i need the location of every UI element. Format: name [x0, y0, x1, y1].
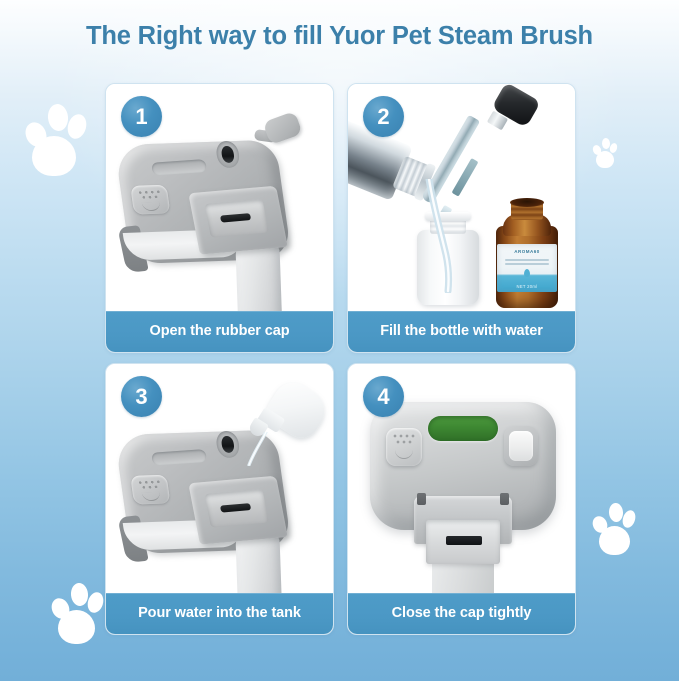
step-card-2: AROMA60 NET 20ml 2 Fill the bottle with …: [347, 83, 576, 353]
oil-bottle-mouth: [510, 198, 544, 207]
step-card-3: 3 Pour water into the tank: [105, 363, 334, 635]
background-sheen: [0, 0, 679, 681]
paw-toe: [590, 514, 610, 535]
step-3-illustration: 3: [106, 364, 333, 593]
step-number-badge-3: 3: [121, 376, 162, 417]
button-arc-icon: [142, 492, 161, 502]
button-arc-icon: [395, 449, 413, 459]
infographic-poster: The Right way to fill Yuor Pet Steam Bru…: [0, 0, 679, 681]
device-power-button: [386, 428, 422, 466]
step-number-badge-2: 2: [363, 96, 404, 137]
water-drop-icon: [524, 269, 530, 277]
device-water-tank: [426, 520, 500, 564]
paw-pad: [596, 151, 614, 168]
paw-print-top-right: [589, 138, 619, 170]
paw-pad: [58, 610, 95, 644]
button-dots-icon: [392, 434, 416, 448]
button-dots-icon: [137, 190, 163, 203]
paw-toe: [22, 119, 50, 150]
step-caption-1: Open the rubber cap: [106, 311, 333, 352]
button-dots-icon: [137, 480, 163, 493]
step-caption-4: Close the cap tightly: [348, 593, 575, 634]
step-caption-2: Fill the bottle with water: [348, 311, 575, 352]
water-stream: [424, 179, 464, 293]
paw-pad: [32, 136, 76, 176]
device-flap-inner: [205, 199, 269, 238]
paw-toe: [48, 595, 72, 621]
squeeze-bottle: [246, 374, 326, 460]
essential-oil-bottle: AROMA60 NET 20ml: [496, 198, 558, 308]
squeeze-bottle-body: [261, 375, 332, 444]
paw-toe: [47, 103, 70, 132]
paw-toe: [70, 582, 89, 606]
step-caption-3: Pour water into the tank: [106, 593, 333, 634]
step-1-illustration: 1: [106, 84, 333, 311]
paw-toe: [621, 509, 638, 530]
paw-pad: [599, 526, 630, 555]
device-brush-flap: [188, 476, 288, 545]
step-2-illustration: AROMA60 NET 20ml 2: [348, 84, 575, 311]
step-number-badge-1: 1: [121, 96, 162, 137]
step-card-4: 4 Close the cap tightly: [347, 363, 576, 635]
paw-toe: [85, 590, 105, 614]
paw-toe: [65, 112, 89, 141]
device-front-group: [370, 402, 556, 592]
device-power-button: [130, 475, 170, 505]
device-brush-flap: [188, 186, 288, 255]
step-card-1: 1 Open the rubber cap: [105, 83, 334, 353]
paw-toe: [591, 144, 602, 156]
page-title: The Right way to fill Yuor Pet Steam Bru…: [0, 22, 679, 51]
paw-toe: [609, 142, 619, 154]
paw-print-bottom-left: [43, 583, 105, 647]
pour-stream: [246, 432, 272, 466]
paw-print-top-left: [14, 104, 88, 182]
paw-toe: [602, 138, 611, 150]
paw-print-bottom-right: [587, 503, 637, 555]
oil-label-brand: AROMA60: [497, 249, 557, 254]
button-arc-icon: [142, 202, 161, 212]
device-flap-inner: [205, 489, 269, 528]
paw-toe: [608, 503, 623, 523]
device-power-button: [130, 185, 170, 215]
oil-bottle-label: AROMA60 NET 20ml: [497, 244, 557, 292]
green-indicator-window: [428, 416, 498, 441]
oil-label-volume: NET 20ml: [497, 284, 557, 289]
device-side-button: [504, 426, 538, 466]
oil-label-line: [505, 263, 549, 265]
oil-label-line: [505, 259, 549, 261]
step-number-badge-4: 4: [363, 376, 404, 417]
step-4-illustration: 4: [348, 364, 575, 593]
